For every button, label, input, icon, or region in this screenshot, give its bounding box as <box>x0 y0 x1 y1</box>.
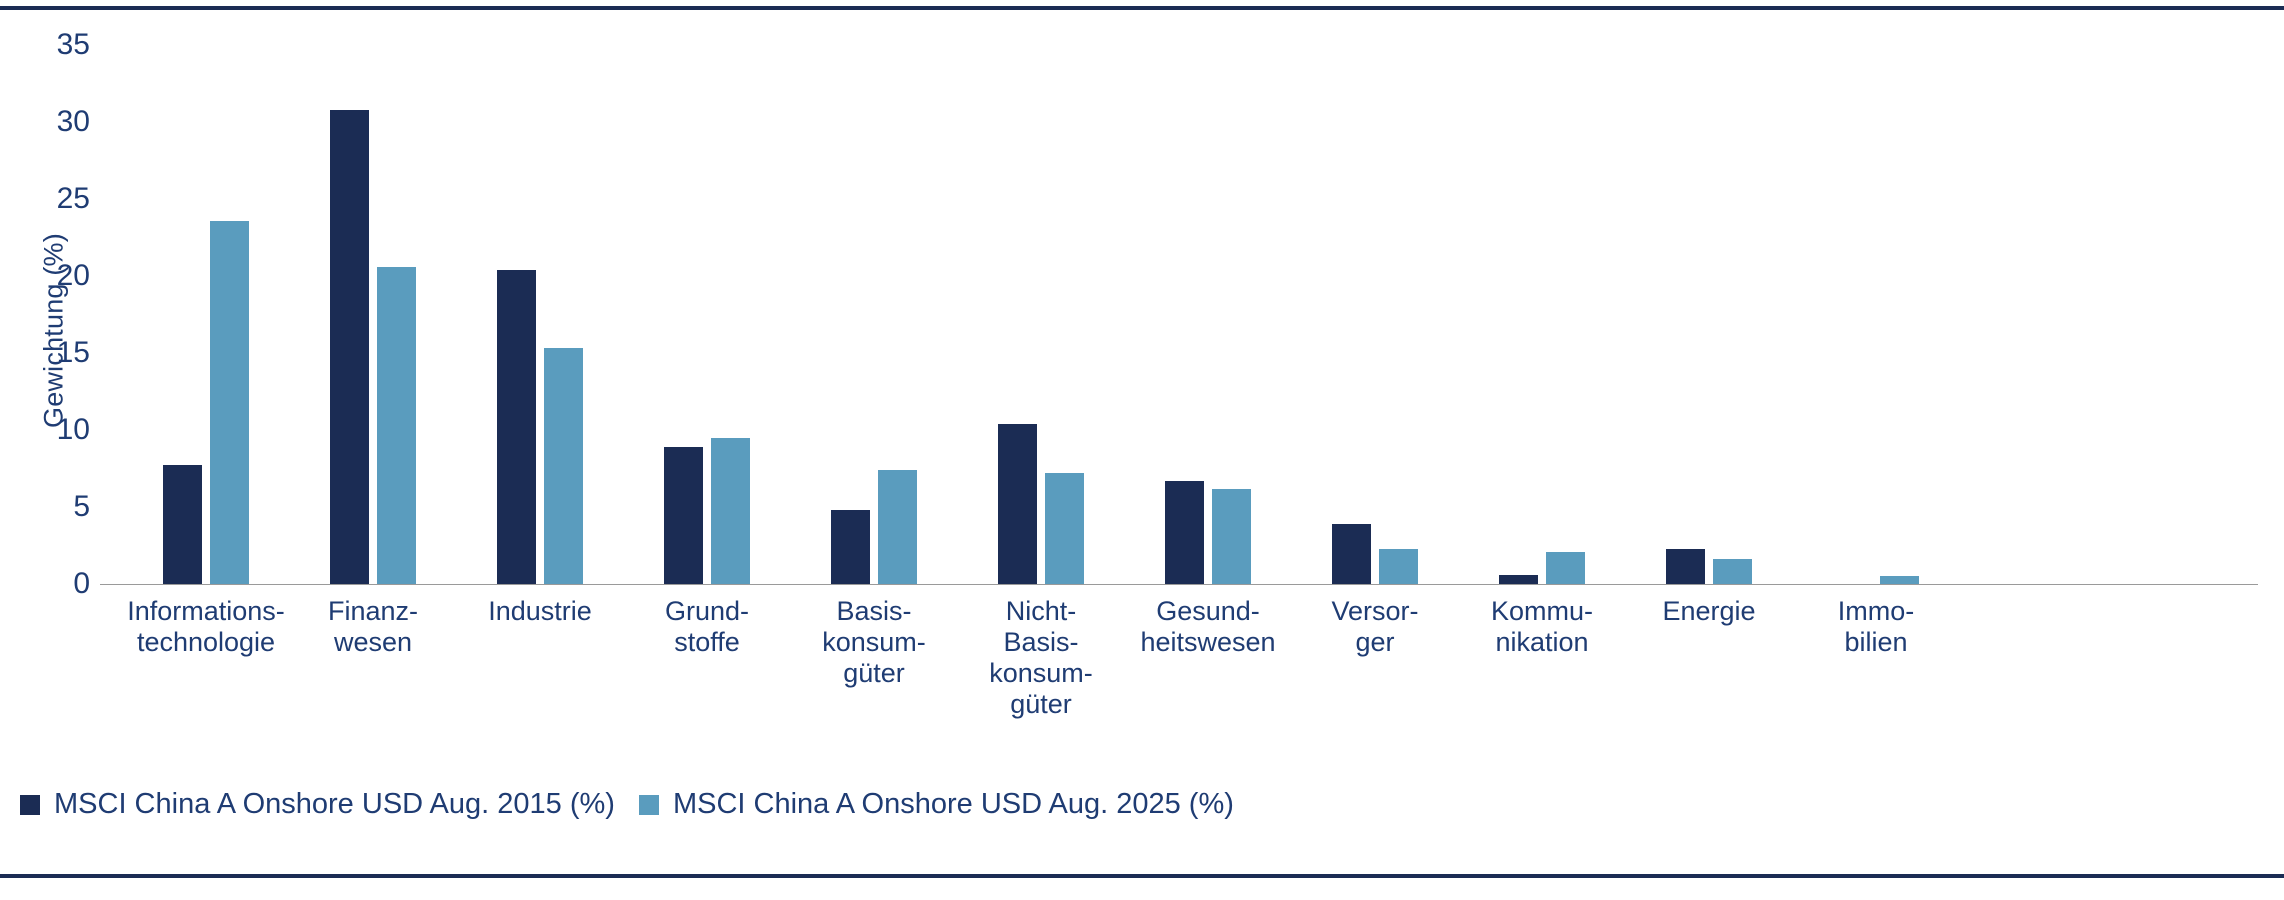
x-axis-category-line: Immo- <box>1783 596 1969 627</box>
x-axis-category-label-5: Nicht-Basis-konsum-güter <box>948 596 1134 720</box>
chart-page: Gewichtung (%) 05101520253035 Informatio… <box>0 0 2284 900</box>
x-axis-category-line: Grund- <box>614 596 800 627</box>
x-axis-category-line: ger <box>1282 627 1468 658</box>
bar-2015-2[interactable] <box>497 270 536 584</box>
y-axis-tick-5: 5 <box>28 492 90 522</box>
legend-item-2015[interactable]: MSCI China A Onshore USD Aug. 2015 (%) <box>20 788 615 821</box>
y-axis-tick-30: 30 <box>28 107 90 137</box>
y-axis-tick-10: 10 <box>28 415 90 445</box>
bar-2025-8[interactable] <box>1546 552 1585 584</box>
x-axis-category-line: technologie <box>113 627 299 658</box>
bar-2025-3[interactable] <box>711 438 750 584</box>
bar-2015-7[interactable] <box>1332 524 1371 584</box>
bar-2025-2[interactable] <box>544 348 583 584</box>
x-axis-category-label-0: Informations-technologie <box>113 596 299 658</box>
x-axis-category-line: Industrie <box>447 596 633 627</box>
x-axis-category-label-8: Kommu-nikation <box>1449 596 1635 658</box>
y-axis-tick-35: 35 <box>28 30 90 60</box>
bar-2015-9[interactable] <box>1666 549 1705 584</box>
x-axis-category-line: Informations- <box>113 596 299 627</box>
x-axis-category-line: güter <box>781 658 967 689</box>
x-axis-category-line: nikation <box>1449 627 1635 658</box>
bar-2025-0[interactable] <box>210 221 249 584</box>
x-axis-category-line: Gesund- <box>1115 596 1301 627</box>
bar-2025-4[interactable] <box>878 470 917 584</box>
y-axis-tick-0: 0 <box>28 569 90 599</box>
x-axis-category-line: konsum- <box>948 658 1134 689</box>
x-axis-category-label-1: Finanz-wesen <box>280 596 466 658</box>
bar-chart-plot: Gewichtung (%) 05101520253035 Informatio… <box>0 0 2284 900</box>
y-axis-tick-20: 20 <box>28 261 90 291</box>
x-axis-category-label-2: Industrie <box>447 596 633 627</box>
x-axis-category-line: wesen <box>280 627 466 658</box>
bar-2015-8[interactable] <box>1499 575 1538 584</box>
legend-label-2025: MSCI China A Onshore USD Aug. 2025 (%) <box>673 788 1234 821</box>
x-axis-category-line: bilien <box>1783 627 1969 658</box>
bar-2025-9[interactable] <box>1713 559 1752 584</box>
x-axis-category-label-4: Basis-konsum-güter <box>781 596 967 689</box>
bar-2025-6[interactable] <box>1212 489 1251 584</box>
x-axis-category-line: Energie <box>1616 596 1802 627</box>
x-axis-category-label-6: Gesund-heitswesen <box>1115 596 1301 658</box>
x-axis-category-line: Finanz- <box>280 596 466 627</box>
bar-2015-5[interactable] <box>998 424 1037 584</box>
y-axis-tick-25: 25 <box>28 184 90 214</box>
x-axis-category-line: güter <box>948 689 1134 720</box>
x-axis-category-line: Basis- <box>781 596 967 627</box>
x-axis-category-line: heitswesen <box>1115 627 1301 658</box>
chart-legend: MSCI China A Onshore USD Aug. 2015 (%) M… <box>20 788 1234 821</box>
bar-2015-6[interactable] <box>1165 481 1204 584</box>
x-axis-category-label-9: Energie <box>1616 596 1802 627</box>
x-axis-category-line: konsum- <box>781 627 967 658</box>
bar-2015-1[interactable] <box>330 110 369 584</box>
square-swatch-icon <box>20 795 40 815</box>
legend-item-2025[interactable]: MSCI China A Onshore USD Aug. 2025 (%) <box>639 788 1234 821</box>
bar-2025-7[interactable] <box>1379 549 1418 584</box>
legend-label-2015: MSCI China A Onshore USD Aug. 2015 (%) <box>54 788 615 821</box>
bar-2015-4[interactable] <box>831 510 870 584</box>
x-axis-category-label-3: Grund-stoffe <box>614 596 800 658</box>
x-axis-category-line: Nicht- <box>948 596 1134 627</box>
x-axis-category-line: Basis- <box>948 627 1134 658</box>
square-swatch-icon <box>639 795 659 815</box>
bar-2025-10[interactable] <box>1880 576 1919 584</box>
x-axis-category-line: Kommu- <box>1449 596 1635 627</box>
x-axis-category-line: Versor- <box>1282 596 1468 627</box>
x-axis-category-line: stoffe <box>614 627 800 658</box>
x-axis-category-label-7: Versor-ger <box>1282 596 1468 658</box>
bar-2015-3[interactable] <box>664 447 703 584</box>
y-axis-tick-15: 15 <box>28 338 90 368</box>
x-axis-category-label-10: Immo-bilien <box>1783 596 1969 658</box>
bar-2015-0[interactable] <box>163 465 202 584</box>
bar-2025-5[interactable] <box>1045 473 1084 584</box>
x-axis-baseline <box>100 584 2258 585</box>
bar-2025-1[interactable] <box>377 267 416 584</box>
